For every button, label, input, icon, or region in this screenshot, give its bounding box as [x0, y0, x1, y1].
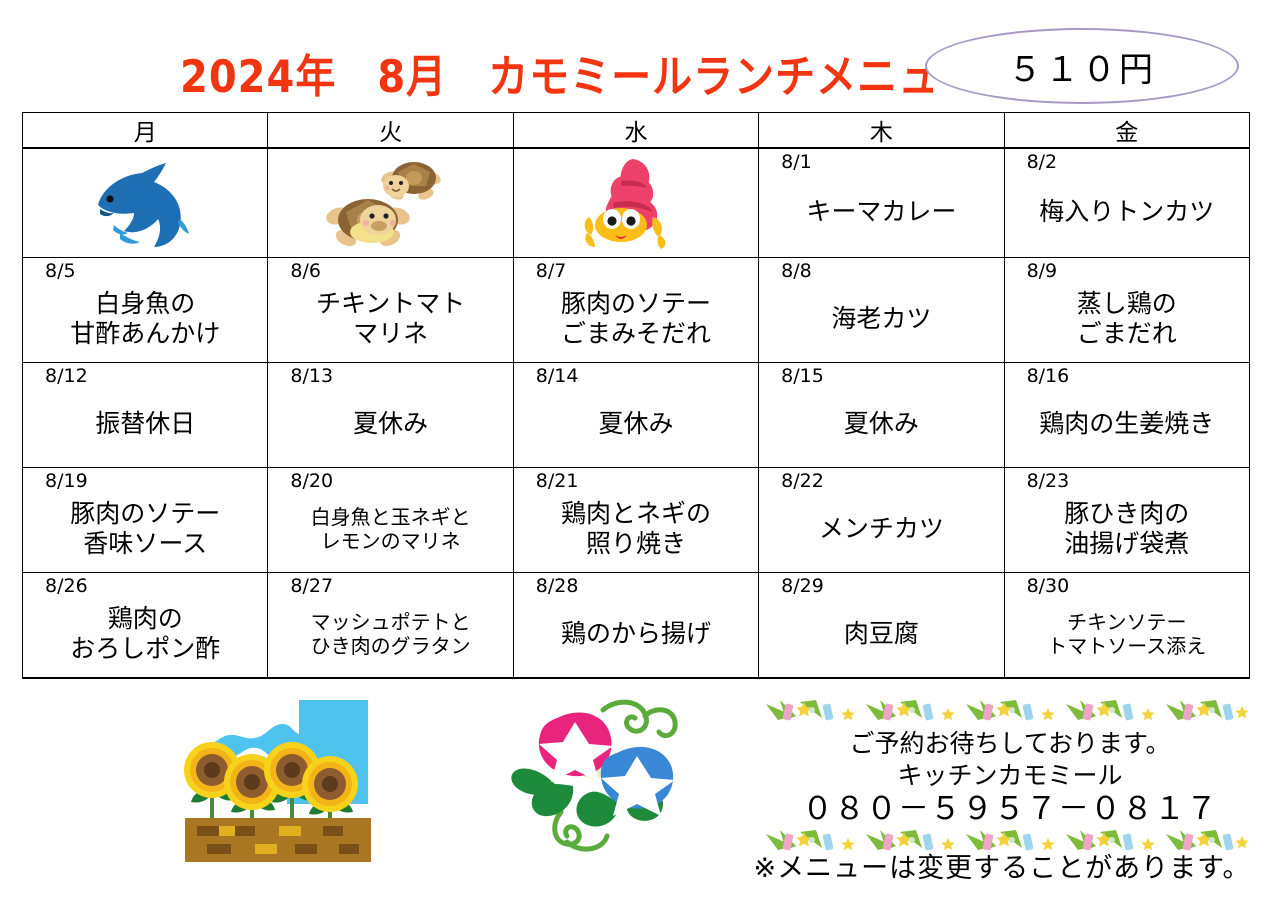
- calendar-cell: 8/5 白身魚の甘酢あんかけ: [23, 258, 268, 363]
- cell-menu: 鶏のから揚げ: [514, 597, 758, 677]
- weekday-header-mon: 月: [23, 113, 268, 149]
- calendar-cell: 8/12 振替休日: [23, 363, 268, 468]
- price-badge: ５１０円: [925, 28, 1239, 104]
- cell-date: 8/12: [23, 363, 267, 387]
- calendar-week-row: 8/26 鶏肉のおろしポン酢 8/27 マッシュポテトとひき肉のグラタン 8/2…: [23, 573, 1250, 679]
- calendar-cell: 8/9 蒸し鶏のごまだれ: [1004, 258, 1249, 363]
- weekday-header-thu: 木: [759, 113, 1004, 149]
- cell-menu: 夏休み: [759, 387, 1003, 467]
- calendar-cell: 8/20 白身魚と玉ネギとレモンのマリネ: [268, 468, 513, 573]
- calendar-cell: 8/28 鶏のから揚げ: [513, 573, 758, 679]
- morning-glory-icon: [495, 692, 695, 867]
- cell-date: 8/30: [1005, 573, 1249, 597]
- calendar-week-row: 8/1 キーマカレー 8/2 梅入りトンカツ: [23, 148, 1250, 258]
- cell-menu: マッシュポテトとひき肉のグラタン: [268, 597, 512, 677]
- calendar-cell: 8/13 夏休み: [268, 363, 513, 468]
- cell-menu: 振替休日: [23, 387, 267, 467]
- cell-date: 8/8: [759, 258, 1003, 282]
- cell-menu: 夏休み: [268, 387, 512, 467]
- cell-menu: 鶏肉の生姜焼き: [1005, 387, 1249, 467]
- calendar-cell: 8/16 鶏肉の生姜焼き: [1004, 363, 1249, 468]
- weekday-header-tue: 火: [268, 113, 513, 149]
- cell-menu: 海老カツ: [759, 282, 1003, 362]
- sunflowers-icon: [163, 694, 373, 869]
- page-header: 2024年 8月 カモミールランチメニュー ５１０円: [0, 0, 1280, 110]
- calendar-cell: 8/15 夏休み: [759, 363, 1004, 468]
- cell-menu: チキントマトマリネ: [268, 282, 512, 362]
- cell-date: 8/5: [23, 258, 267, 282]
- calendar-week-row: 8/12 振替休日 8/13 夏休み 8/14 夏休み 8/15 夏: [23, 363, 1250, 468]
- cell-menu: 豚肉のソテーごまみそだれ: [514, 282, 758, 362]
- cell-menu: 豚肉のソテー香味ソース: [23, 492, 267, 572]
- calendar-cell: [23, 148, 268, 258]
- page-title: 2024年 8月 カモミールランチメニュー: [180, 41, 980, 106]
- weekday-header-fri: 金: [1004, 113, 1249, 149]
- cell-menu: 白身魚の甘酢あんかけ: [23, 282, 267, 362]
- calendar-cell: 8/19 豚肉のソテー香味ソース: [23, 468, 268, 573]
- calendar-cell: 8/2 梅入りトンカツ: [1004, 148, 1249, 258]
- cell-date: 8/2: [1005, 149, 1249, 173]
- cell-date: 8/29: [759, 573, 1003, 597]
- cell-date: 8/19: [23, 468, 267, 492]
- cell-date: 8/1: [759, 149, 1003, 173]
- cell-date: 8/14: [514, 363, 758, 387]
- cell-menu: 鶏肉のおろしポン酢: [23, 597, 267, 677]
- calendar-cell: 8/29 肉豆腐: [759, 573, 1004, 679]
- calendar-cell: 8/27 マッシュポテトとひき肉のグラタン: [268, 573, 513, 679]
- cell-menu: 豚ひき肉の油揚げ袋煮: [1005, 492, 1249, 572]
- shop-name: キッチンカモミール: [760, 760, 1260, 792]
- cell-date: 8/6: [268, 258, 512, 282]
- tanabata-border-top-icon: [760, 698, 1260, 726]
- cell-date: 8/16: [1005, 363, 1249, 387]
- calendar-cell: 8/1 キーマカレー: [759, 148, 1004, 258]
- cell-date: 8/22: [759, 468, 1003, 492]
- cell-menu: 梅入りトンカツ: [1005, 173, 1249, 257]
- cell-menu: メンチカツ: [759, 492, 1003, 572]
- phone-number[interactable]: ０８０－５９５７－０８１７: [760, 791, 1260, 828]
- cell-date: 8/20: [268, 468, 512, 492]
- calendar-cell: 8/8 海老カツ: [759, 258, 1004, 363]
- cell-menu: 夏休み: [514, 387, 758, 467]
- contact-block: ご予約お待ちしております。 キッチンカモミール ０８０－５９５７－０８１７: [760, 698, 1260, 856]
- calendar-cell: 8/7 豚肉のソテーごまみそだれ: [513, 258, 758, 363]
- cell-menu: 肉豆腐: [759, 597, 1003, 677]
- hermit-crab-icon: [514, 153, 758, 257]
- cell-date: 8/15: [759, 363, 1003, 387]
- calendar-cell: 8/22 メンチカツ: [759, 468, 1004, 573]
- calendar-week-row: 8/19 豚肉のソテー香味ソース 8/20 白身魚と玉ネギとレモンのマリネ 8/…: [23, 468, 1250, 573]
- page-footer: ご予約お待ちしております。 キッチンカモミール ０８０－５９５７－０８１７: [0, 686, 1280, 905]
- price-value: ５１０円: [1008, 42, 1156, 91]
- cell-date: 8/9: [1005, 258, 1249, 282]
- menu-change-note: ※メニューは変更することがあります。: [742, 846, 1262, 885]
- cell-date: 8/7: [514, 258, 758, 282]
- cell-date: 8/26: [23, 573, 267, 597]
- calendar-cell: 8/26 鶏肉のおろしポン酢: [23, 573, 268, 679]
- dolphin-icon: [23, 153, 267, 257]
- cell-menu: キーマカレー: [759, 173, 1003, 257]
- cell-date: 8/27: [268, 573, 512, 597]
- cell-menu: 鶏肉とネギの照り焼き: [514, 492, 758, 572]
- cell-date: 8/13: [268, 363, 512, 387]
- calendar-cell: 8/6 チキントマトマリネ: [268, 258, 513, 363]
- calendar-cell: [268, 148, 513, 258]
- menu-calendar: 月 火 水 木 金: [22, 112, 1250, 679]
- calendar-week-row: 8/5 白身魚の甘酢あんかけ 8/6 チキントマトマリネ 8/7 豚肉のソテーご…: [23, 258, 1250, 363]
- sea-turtles-icon: [268, 153, 512, 257]
- calendar-body: 8/1 キーマカレー 8/2 梅入りトンカツ 8/5 白身魚の甘酢あんかけ: [23, 148, 1250, 678]
- reservation-text: ご予約お待ちしております。: [760, 728, 1260, 760]
- cell-menu: 白身魚と玉ネギとレモンのマリネ: [268, 492, 512, 572]
- cell-date: 8/28: [514, 573, 758, 597]
- calendar-cell: [513, 148, 758, 258]
- cell-date: 8/23: [1005, 468, 1249, 492]
- weekday-header-wed: 水: [513, 113, 758, 149]
- calendar-cell: 8/14 夏休み: [513, 363, 758, 468]
- contact-lines: ご予約お待ちしております。 キッチンカモミール ０８０－５９５７－０８１７: [760, 726, 1260, 828]
- cell-date: 8/21: [514, 468, 758, 492]
- calendar-header-row: 月 火 水 木 金: [23, 113, 1250, 149]
- calendar-cell: 8/21 鶏肉とネギの照り焼き: [513, 468, 758, 573]
- cell-menu: チキンソテートマトソース添え: [1005, 597, 1249, 677]
- calendar-cell: 8/30 チキンソテートマトソース添え: [1004, 573, 1249, 679]
- cell-menu: 蒸し鶏のごまだれ: [1005, 282, 1249, 362]
- calendar-cell: 8/23 豚ひき肉の油揚げ袋煮: [1004, 468, 1249, 573]
